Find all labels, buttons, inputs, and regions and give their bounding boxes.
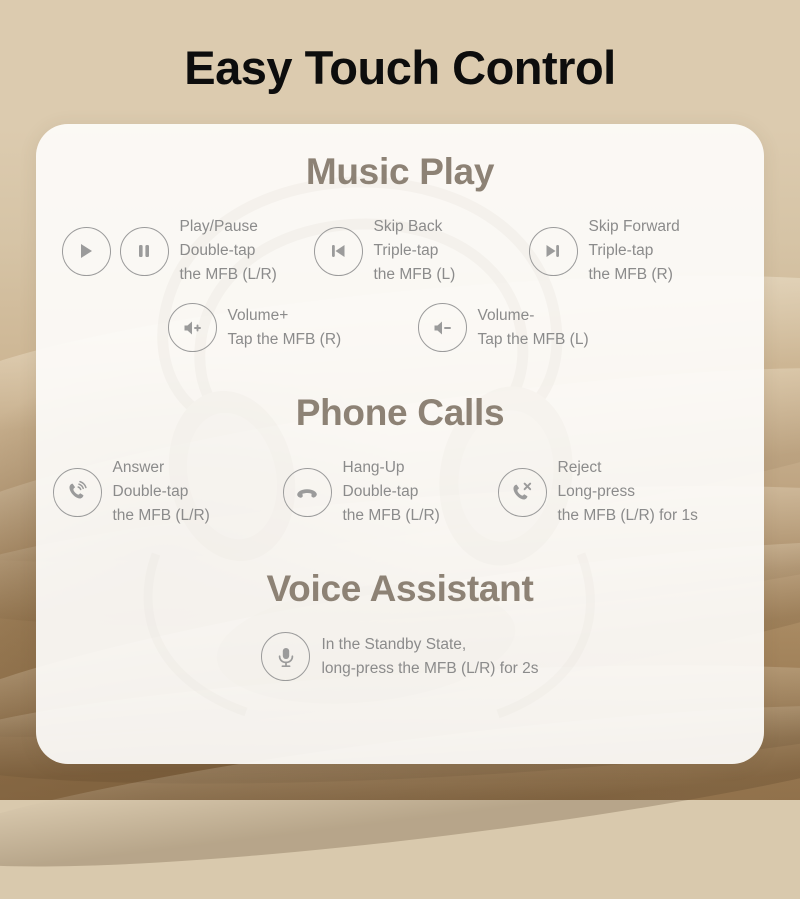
music-row-1: Play/Pause Double-tap the MFB (L/R) Skip [36,215,764,287]
control-item-reject[interactable]: Reject Long-press the MFB (L/R) for 1s [498,456,748,528]
reject-button[interactable] [498,468,547,517]
card-content: Music Play [36,151,764,764]
control-line: Skip Forward [589,215,680,239]
control-item-play-pause[interactable]: Play/Pause Double-tap the MFB (L/R) [62,215,314,287]
control-item-volume-up[interactable]: Volume+ Tap the MFB (R) [168,303,418,352]
phone-reject-icon [510,480,534,504]
skip-back-button[interactable] [314,227,363,276]
control-line: the MFB (L) [374,263,456,287]
skip-forward-icons [529,227,578,276]
pause-icon [134,241,154,261]
page-title: Easy Touch Control [0,40,800,96]
phone-answer-icon [65,480,89,504]
control-line: Triple-tap [374,239,456,263]
pause-button[interactable] [120,227,169,276]
control-line: Double-tap [113,480,210,504]
skip-forward-icon [543,241,563,261]
control-line: Double-tap [180,239,277,263]
music-row-2: Volume+ Tap the MFB (R) Volume- Tap the … [36,303,764,352]
hang-up-icons [283,468,332,517]
control-line: Hang-Up [343,456,440,480]
section-title-phone-calls: Phone Calls [36,392,764,434]
control-line: the MFB (R) [589,263,680,287]
skip-back-icon [328,241,348,261]
answer-button[interactable] [53,468,102,517]
control-line: Volume- [478,304,589,328]
control-item-skip-forward[interactable]: Skip Forward Triple-tap the MFB (R) [529,215,739,287]
phone-hangup-icon [294,480,320,504]
reject-icons [498,468,547,517]
control-line: the MFB (L/R) for 1s [558,504,698,528]
play-pause-text: Play/Pause Double-tap the MFB (L/R) [180,215,277,287]
skip-forward-button[interactable] [529,227,578,276]
volume-down-button[interactable] [418,303,467,352]
volume-up-icon [181,318,203,338]
control-line: the MFB (L/R) [180,263,277,287]
volume-down-text: Volume- Tap the MFB (L) [478,304,589,352]
volume-up-button[interactable] [168,303,217,352]
control-line: Tap the MFB (L) [478,328,589,352]
volume-up-text: Volume+ Tap the MFB (R) [228,304,342,352]
skip-back-text: Skip Back Triple-tap the MFB (L) [374,215,456,287]
volume-up-icons [168,303,217,352]
control-line: Skip Back [374,215,456,239]
hang-up-text: Hang-Up Double-tap the MFB (L/R) [343,456,440,528]
answer-icons [53,468,102,517]
control-line: the MFB (L/R) [113,504,210,528]
reject-text: Reject Long-press the MFB (L/R) for 1s [558,456,698,528]
control-item-voice-assistant[interactable]: In the Standby State, long-press the MFB… [261,632,538,681]
voice-assistant-button[interactable] [261,632,310,681]
control-line: Reject [558,456,698,480]
control-item-skip-back[interactable]: Skip Back Triple-tap the MFB (L) [314,215,529,287]
section-title-voice-assistant: Voice Assistant [36,568,764,610]
skip-back-icons [314,227,363,276]
microphone-icon [275,645,297,669]
control-line: the MFB (L/R) [343,504,440,528]
hang-up-button[interactable] [283,468,332,517]
voice-assistant-text: In the Standby State, long-press the MFB… [321,633,538,681]
volume-down-icons [418,303,467,352]
control-line: Play/Pause [180,215,277,239]
control-line: Triple-tap [589,239,680,263]
skip-forward-text: Skip Forward Triple-tap the MFB (R) [589,215,680,287]
play-pause-icons [62,227,169,276]
control-line: long-press the MFB (L/R) for 2s [321,657,538,681]
volume-down-icon [431,318,453,338]
phone-row-1: Answer Double-tap the MFB (L/R) Hang-Up … [36,456,764,528]
voice-row-1: In the Standby State, long-press the MFB… [36,632,764,681]
info-card: Music Play [36,124,764,764]
voice-assistant-icons [261,632,310,681]
play-button[interactable] [62,227,111,276]
control-line: In the Standby State, [321,633,538,657]
section-title-music-play: Music Play [36,151,764,193]
control-line: Tap the MFB (R) [228,328,342,352]
control-item-volume-down[interactable]: Volume- Tap the MFB (L) [418,303,633,352]
answer-text: Answer Double-tap the MFB (L/R) [113,456,210,528]
control-item-hang-up[interactable]: Hang-Up Double-tap the MFB (L/R) [283,456,498,528]
control-line: Volume+ [228,304,342,328]
control-line: Answer [113,456,210,480]
play-icon [76,241,96,261]
control-item-answer[interactable]: Answer Double-tap the MFB (L/R) [53,456,283,528]
control-line: Long-press [558,480,698,504]
control-line: Double-tap [343,480,440,504]
